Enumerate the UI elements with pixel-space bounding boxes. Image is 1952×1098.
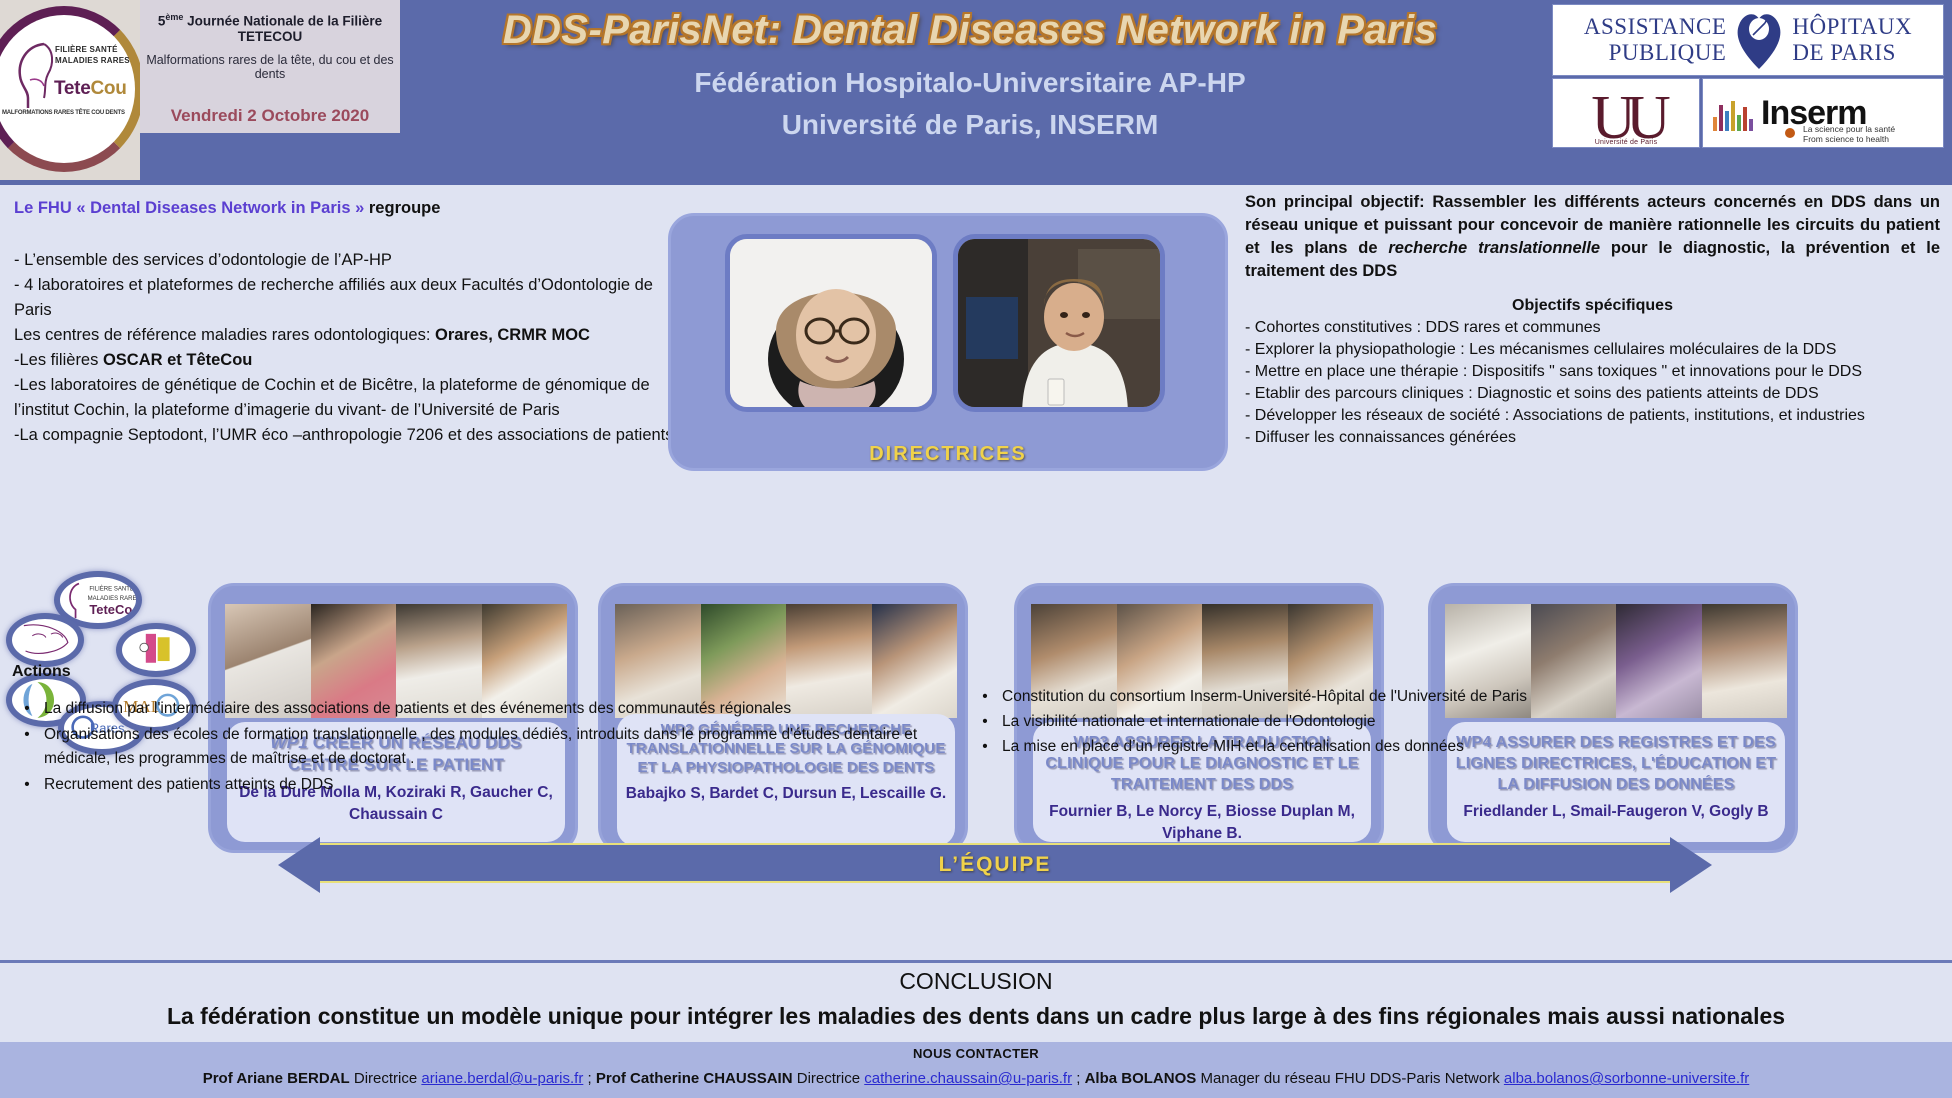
contact-name-1: Prof Ariane BERDAL: [203, 1070, 350, 1087]
objective-item: - Explorer la physiopathologie : Les méc…: [1245, 339, 1940, 361]
actions-left-list: •La diffusion par l'intermédiaire des as…: [10, 697, 940, 799]
tetecou-line2: MALADIES RARES: [55, 55, 130, 66]
fhu-items: - L’ensemble des services d’odontologie …: [14, 248, 674, 448]
fhu-item: -Les laboratoires de génétique de Cochin…: [14, 373, 674, 423]
contact-line: Prof Ariane BERDAL Directrice ariane.ber…: [0, 1070, 1952, 1087]
contact-name-3: Alba BOLANOS: [1085, 1070, 1197, 1087]
wp3-members: Fournier B, Le Norcy E, Biosse Duplan M,…: [1041, 801, 1363, 845]
contact-section: NOUS CONTACTER Prof Ariane BERDAL Direct…: [0, 1042, 1952, 1098]
objective-item: - Cohortes constitutives : DDS rares et …: [1245, 317, 1940, 339]
action-item: •La diffusion par l'intermédiaire des as…: [10, 697, 940, 721]
specific-objectives-title: Objectifs spécifiques: [1245, 297, 1940, 315]
aphp-logo: ASSISTANCE PUBLIQUE HÔPITAUX DE PARIS: [1552, 4, 1944, 76]
objective-item: - Etablir des parcours cliniques : Diagn…: [1245, 383, 1940, 405]
subtitle-line-1: Fédération Hospitalo-Universitaire AP-HP: [400, 62, 1540, 104]
bullet-icon: •: [10, 697, 44, 721]
tetecou-logo: FILIÈRE SANTÉ MALADIES RARES TeteCou MAL…: [0, 0, 140, 180]
contact-role-3: Manager du réseau FHU DDS-Paris Network: [1196, 1070, 1504, 1087]
action-text: Constitution du consortium Inserm-Univer…: [1002, 685, 1527, 708]
action-text: Organisations des écoles de formation tr…: [44, 723, 940, 771]
directrices-caption: DIRECTRICES: [671, 443, 1225, 466]
email-link-berdal[interactable]: ariane.berdal@u-paris.fr: [421, 1070, 583, 1087]
email-link-bolanos[interactable]: alba.bolanos@sorbonne-universite.fr: [1504, 1070, 1749, 1087]
contact-role-1: Directrice: [350, 1070, 422, 1087]
event-banner: 5ème Journée Nationale de la Filière TET…: [140, 0, 400, 133]
event-title: 5ème Journée Nationale de la Filière TET…: [140, 12, 400, 44]
avatar: [725, 234, 937, 412]
fhu-item: Les centres de référence maladies rares …: [14, 323, 674, 348]
avatar: [953, 234, 1165, 412]
fhu-item: - L’ensemble des services d’odontologie …: [14, 248, 674, 273]
fhu-heading: Le FHU « Dental Diseases Network in Pari…: [14, 199, 674, 218]
action-item: •Recrutement des patients atteints de DD…: [10, 773, 940, 797]
fhu-item: -La compagnie Septodont, l’UMR éco –anth…: [14, 423, 674, 448]
fhu-item: -Les filières OSCAR et TêteCou: [14, 348, 674, 373]
page-title: DDS-ParisNet: Dental Diseases Network in…: [400, 8, 1540, 53]
action-text: Recrutement des patients atteints de DDS: [44, 773, 333, 797]
institution-logos: ASSISTANCE PUBLIQUE HÔPITAUX DE PARIS UU…: [1552, 4, 1944, 148]
inserm-dot-icon: [1785, 128, 1795, 138]
updp-caption: Université de Paris: [1595, 139, 1658, 146]
event-date: Vendredi 2 Octobre 2020: [140, 106, 400, 126]
tetecou-wordmark: TeteCou: [54, 78, 127, 100]
subtitle-line-2: Université de Paris, INSERM: [400, 104, 1540, 146]
action-item: •Constitution du consortium Inserm-Unive…: [968, 685, 1868, 708]
head-profile-icon: [14, 40, 56, 112]
aphp-heart-icon: [1733, 9, 1785, 71]
inserm-tagline-1: La science pour la santé: [1803, 124, 1895, 134]
objectives-panel: Son principal objectif: Rassembler les d…: [1245, 191, 1940, 449]
separator-2: ;: [1072, 1070, 1085, 1087]
conclusion-text: La fédération constitue un modèle unique…: [0, 1003, 1952, 1030]
tetecou-line1: FILIÈRE SANTÉ: [55, 44, 130, 55]
action-text: La mise en place d’un registre MIH et la…: [1002, 735, 1464, 758]
page-subtitle: Fédération Hospitalo-Universitaire AP-HP…: [400, 62, 1540, 146]
action-item: •Organisations des écoles de formation t…: [10, 723, 940, 771]
contact-title: NOUS CONTACTER: [0, 1046, 1952, 1061]
inserm-tagline-2: From science to health: [1803, 134, 1895, 144]
objective-item: - Développer les réseaux de société : As…: [1245, 405, 1940, 427]
portrait-chaussain: [958, 239, 1165, 412]
action-text: La diffusion par l'intermédiaire des ass…: [44, 697, 791, 721]
aphp-left-text: ASSISTANCE PUBLIQUE: [1584, 14, 1726, 66]
inserm-bars-icon: [1713, 95, 1755, 131]
tetecou-sublabel: FILIÈRE SANTÉ MALADIES RARES: [55, 44, 130, 66]
poster-header: FILIÈRE SANTÉ MALADIES RARES TeteCou MAL…: [0, 0, 1952, 185]
tetecou-footer: MALFORMATIONS RARES TÊTE COU DENTS: [2, 110, 125, 116]
actions-right-list: •Constitution du consortium Inserm-Unive…: [968, 685, 1868, 760]
team-band-label: L’ÉQUIPE: [320, 845, 1670, 885]
inserm-tagline: La science pour la santé From science to…: [1803, 124, 1895, 144]
aphp-right-1: HÔPITAUX: [1792, 14, 1912, 40]
conclusion-section: CONCLUSION La fédération constitue un mo…: [0, 960, 1952, 1042]
team-band: L’ÉQUIPE: [320, 843, 1670, 883]
bullet-icon: •: [10, 773, 44, 797]
aphp-right-text: HÔPITAUX DE PARIS: [1792, 14, 1912, 66]
directrices-panel: DIRECTRICES: [668, 213, 1228, 471]
bullet-icon: •: [968, 710, 1002, 733]
specific-objectives-list: - Cohortes constitutives : DDS rares et …: [1245, 317, 1940, 449]
aphp-left-1: ASSISTANCE: [1584, 14, 1726, 40]
objective-item: - Mettre en place une thérapie : Disposi…: [1245, 361, 1940, 383]
action-item: •La mise en place d’un registre MIH et l…: [968, 735, 1868, 758]
action-text: La visibilité nationale et international…: [1002, 710, 1376, 733]
poster-body: Le FHU « Dental Diseases Network in Pari…: [0, 185, 1952, 957]
aphp-left-2: PUBLIQUE: [1584, 40, 1726, 66]
fhu-item: - 4 laboratoires et plateformes de reche…: [14, 273, 674, 323]
conclusion-title: CONCLUSION: [0, 968, 1952, 995]
main-objective: Son principal objectif: Rassembler les d…: [1245, 191, 1940, 283]
action-item: •La visibilité nationale et internationa…: [968, 710, 1868, 733]
actions-title: Actions: [12, 663, 71, 681]
bullet-icon: •: [968, 735, 1002, 758]
wp4-members: Friedlander L, Smail-Faugeron V, Gogly B: [1455, 801, 1777, 823]
bullet-icon: •: [10, 723, 44, 771]
bullet-icon: •: [968, 685, 1002, 708]
inserm-logo: Inserm La science pour la santé From sci…: [1702, 78, 1944, 148]
fhu-description: Le FHU « Dental Diseases Network in Pari…: [14, 199, 674, 448]
contact-role-2: Directrice: [793, 1070, 865, 1087]
portrait-berdal: [730, 239, 937, 412]
directrices-photos: [725, 234, 1165, 412]
poster-root: FILIÈRE SANTÉ MALADIES RARES TeteCou MAL…: [0, 0, 1952, 1098]
separator-1: ;: [583, 1070, 596, 1087]
contact-name-2: Prof Catherine CHAUSSAIN: [596, 1070, 793, 1087]
universite-de-paris-logo: UU Université de Paris: [1552, 78, 1700, 148]
email-link-chaussain[interactable]: catherine.chaussain@u-paris.fr: [864, 1070, 1072, 1087]
event-subtitle: Malformations rares de la tête, du cou e…: [140, 53, 400, 81]
objective-item: - Diffuser les connaissances générées: [1245, 427, 1940, 449]
aphp-right-2: DE PARIS: [1792, 40, 1912, 66]
